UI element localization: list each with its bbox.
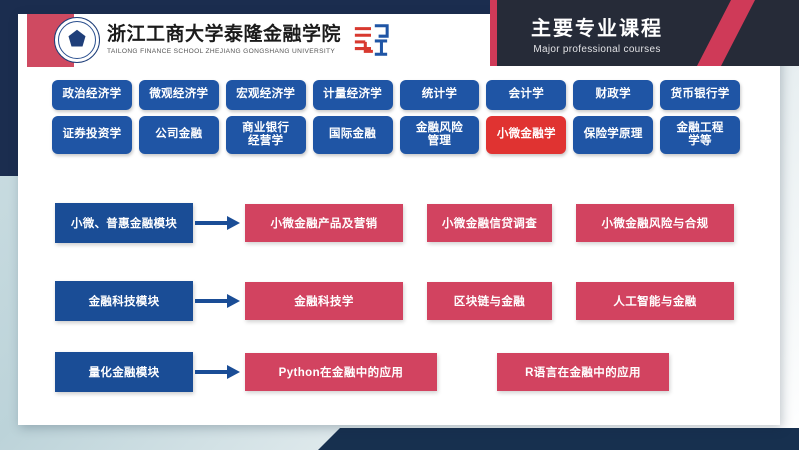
course-pill[interactable]: 会计学: [486, 80, 566, 110]
module-course-item[interactable]: 小微金融信贷调查: [427, 204, 552, 242]
course-grid: 政治经济学 微观经济学 宏观经济学 计量经济学 统计学 会计学 财政学 货币银行…: [52, 80, 740, 160]
course-pill[interactable]: 国际金融: [313, 116, 393, 154]
module-course-item[interactable]: 小微金融风险与合规: [576, 204, 734, 242]
institution-name-en: TAILONG FINANCE SCHOOL ZHEJIANG GONGSHAN…: [107, 48, 341, 55]
course-pill[interactable]: 统计学: [400, 80, 480, 110]
slide-canvas: 浙江工商大学泰隆金融学院 TAILONG FINANCE SCHOOL ZHEJ…: [0, 0, 799, 450]
institution-name-block: 浙江工商大学泰隆金融学院 TAILONG FINANCE SCHOOL ZHEJ…: [107, 25, 341, 55]
module-course-list: 金融科技学 区块链与金融 人工智能与金融: [245, 282, 734, 320]
course-pill[interactable]: 证券投资学: [52, 116, 132, 154]
module-label[interactable]: 量化金融模块: [55, 352, 193, 392]
arrow-right-icon: [193, 282, 245, 320]
course-pill[interactable]: 保险学原理: [573, 116, 653, 154]
module-course-list: Python在金融中的应用 R语言在金融中的应用: [245, 353, 669, 391]
course-row-2: 证券投资学 公司金融 商业银行 经营学 国际金融 金融风险 管理 小微金融学 保…: [52, 116, 740, 154]
title-banner-text: 主要专业课程 Major professional courses: [497, 0, 697, 66]
seal-emblem-shape: [69, 30, 86, 47]
background-navy-bottom-shape: [318, 428, 799, 450]
course-pill[interactable]: 金融工程 学等: [660, 116, 740, 154]
module-course-item[interactable]: 小微金融产品及营销: [245, 204, 403, 242]
module-row-inclusive-finance: 小微、普惠金融模块 小微金融产品及营销 小微金融信贷调查 小微金融风险与合规: [55, 203, 734, 243]
course-pill[interactable]: 政治经济学: [52, 80, 132, 110]
module-label[interactable]: 小微、普惠金融模块: [55, 203, 193, 243]
course-pill[interactable]: 计量经济学: [313, 80, 393, 110]
module-course-item[interactable]: 区块链与金融: [427, 282, 552, 320]
module-course-item[interactable]: 金融科技学: [245, 282, 403, 320]
module-label[interactable]: 金融科技模块: [55, 281, 193, 321]
module-course-list: 小微金融产品及营销 小微金融信贷调查 小微金融风险与合规: [245, 204, 734, 242]
course-pill[interactable]: 公司金融: [139, 116, 219, 154]
module-course-item[interactable]: Python在金融中的应用: [245, 353, 437, 391]
tailong-emblem-icon: [352, 21, 390, 59]
institution-name-zh: 浙江工商大学泰隆金融学院: [107, 25, 341, 46]
course-pill[interactable]: 商业银行 经营学: [226, 116, 306, 154]
institution-logo: 浙江工商大学泰隆金融学院 TAILONG FINANCE SCHOOL ZHEJ…: [54, 16, 390, 64]
course-pill[interactable]: 财政学: [573, 80, 653, 110]
university-seal-icon: [54, 17, 100, 63]
module-row-fintech: 金融科技模块 金融科技学 区块链与金融 人工智能与金融: [55, 281, 734, 321]
arrow-right-icon: [193, 204, 245, 242]
module-row-quantitative-finance: 量化金融模块 Python在金融中的应用 R语言在金融中的应用: [55, 352, 669, 392]
course-pill[interactable]: 宏观经济学: [226, 80, 306, 110]
course-row-1: 政治经济学 微观经济学 宏观经济学 计量经济学 统计学 会计学 财政学 货币银行…: [52, 80, 740, 110]
course-pill[interactable]: 金融风险 管理: [400, 116, 480, 154]
course-pill[interactable]: 货币银行学: [660, 80, 740, 110]
course-pill-highlighted[interactable]: 小微金融学: [486, 116, 566, 154]
arrow-right-icon: [193, 353, 245, 391]
page-title: 主要专业课程: [531, 12, 663, 41]
course-pill[interactable]: 微观经济学: [139, 80, 219, 110]
page-subtitle: Major professional courses: [533, 44, 660, 55]
module-course-item[interactable]: 人工智能与金融: [576, 282, 734, 320]
module-course-item[interactable]: R语言在金融中的应用: [497, 353, 669, 391]
